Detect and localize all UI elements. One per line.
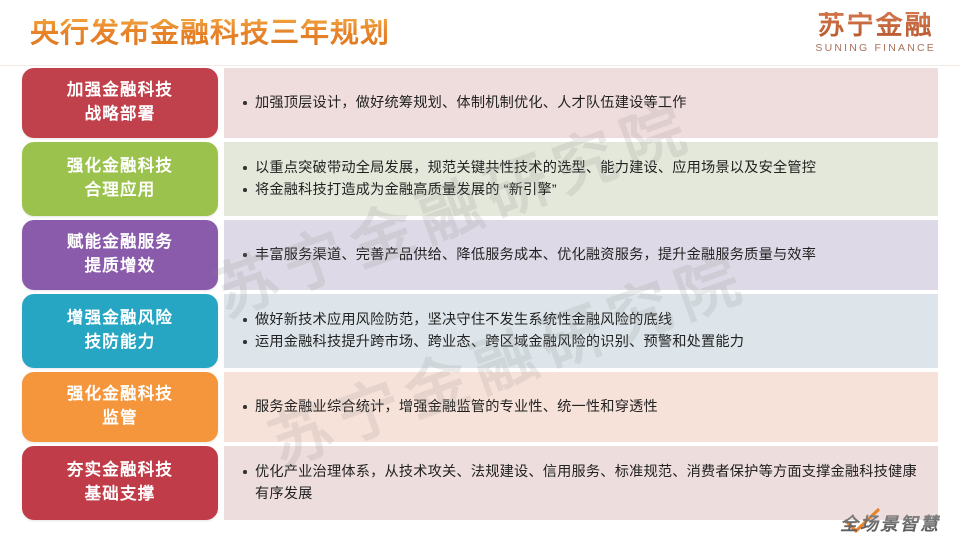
plan-row-label[interactable]: 强化金融科技合理应用: [22, 142, 218, 216]
plan-row: 强化金融科技监管服务金融业综合统计，增强金融监管的专业性、统一性和穿透性: [22, 372, 938, 442]
plan-bullet: 将金融科技打造成为金融高质量发展的 “新引擎”: [242, 179, 924, 201]
plan-row: 加强金融科技战略部署加强顶层设计，做好统筹规划、体制机制优化、人才队伍建设等工作: [22, 68, 938, 138]
page-title: 央行发布金融科技三年规划: [30, 19, 390, 48]
plan-bullet: 服务金融业综合统计，增强金融监管的专业性、统一性和穿透性: [242, 396, 924, 418]
page-header: 央行发布金融科技三年规划 苏宁金融 SUNING FINANCE: [0, 0, 960, 66]
plan-row: 强化金融科技合理应用以重点突破带动全局发展，规范关键共性技术的选型、能力建设、应…: [22, 142, 938, 216]
plan-row-label-line-2: 合理应用: [85, 179, 156, 203]
plan-bullet: 丰富服务渠道、完善产品供给、降低服务成本、优化融资服务，提升金融服务质量与效率: [242, 244, 924, 266]
plan-bullet: 以重点突破带动全局发展，规范关键共性技术的选型、能力建设、应用场景以及安全管控: [242, 157, 924, 179]
plan-row-label-line-2: 战略部署: [85, 103, 156, 127]
plan-row-label[interactable]: 夯实金融科技基础支撑: [22, 446, 218, 520]
plan-row-label[interactable]: 赋能金融服务提质增效: [22, 220, 218, 290]
plan-row-content: 丰富服务渠道、完善产品供给、降低服务成本、优化融资服务，提升金融服务质量与效率: [224, 220, 938, 290]
plan-row: 赋能金融服务提质增效丰富服务渠道、完善产品供给、降低服务成本、优化融资服务，提升…: [22, 220, 938, 290]
plan-bullet: 优化产业治理体系，从技术攻关、法规建设、信用服务、标准规范、消费者保护等方面支撑…: [242, 461, 924, 505]
plan-row-label[interactable]: 强化金融科技监管: [22, 372, 218, 442]
logo-chinese-text: 苏宁金融: [818, 12, 934, 39]
plan-row-label-line-1: 强化金融科技: [67, 383, 173, 407]
plan-row-label-line-2: 监管: [102, 407, 137, 431]
plan-row-label-line-1: 强化金融科技: [67, 155, 173, 179]
plan-bullet: 做好新技术应用风险防范，坚决守住不发生系统性金融风险的底线: [242, 309, 924, 331]
logo-english-text: SUNING FINANCE: [815, 43, 936, 54]
plan-row-label-line-1: 增强金融风险: [67, 307, 173, 331]
plan-bullet: 运用金融科技提升跨市场、跨业态、跨区域金融风险的识别、预警和处置能力: [242, 331, 924, 353]
footer-slogan: 全场景智慧: [840, 510, 940, 536]
plan-row-label-line-1: 加强金融科技: [67, 79, 173, 103]
plan-row-content: 做好新技术应用风险防范，坚决守住不发生系统性金融风险的底线运用金融科技提升跨市场…: [224, 294, 938, 368]
plan-row-label-line-1: 赋能金融服务: [67, 231, 173, 255]
plan-row-label-line-2: 提质增效: [85, 255, 156, 279]
plan-row-label-line-1: 夯实金融科技: [67, 459, 173, 483]
plan-row-label[interactable]: 增强金融风险技防能力: [22, 294, 218, 368]
plan-row: 增强金融风险技防能力做好新技术应用风险防范，坚决守住不发生系统性金融风险的底线运…: [22, 294, 938, 368]
plan-row-content: 服务金融业综合统计，增强金融监管的专业性、统一性和穿透性: [224, 372, 938, 442]
plan-row-content: 加强顶层设计，做好统筹规划、体制机制优化、人才队伍建设等工作: [224, 68, 938, 138]
suning-finance-logo: 苏宁金融 SUNING FINANCE: [815, 12, 942, 54]
plan-row-label-line-2: 基础支撑: [85, 483, 156, 507]
plan-row-content: 以重点突破带动全局发展，规范关键共性技术的选型、能力建设、应用场景以及安全管控将…: [224, 142, 938, 216]
plan-row-label[interactable]: 加强金融科技战略部署: [22, 68, 218, 138]
plan-rows: 加强金融科技战略部署加强顶层设计，做好统筹规划、体制机制优化、人才队伍建设等工作…: [0, 66, 960, 506]
plan-bullet: 加强顶层设计，做好统筹规划、体制机制优化、人才队伍建设等工作: [242, 92, 924, 114]
plan-row-label-line-2: 技防能力: [85, 331, 156, 355]
